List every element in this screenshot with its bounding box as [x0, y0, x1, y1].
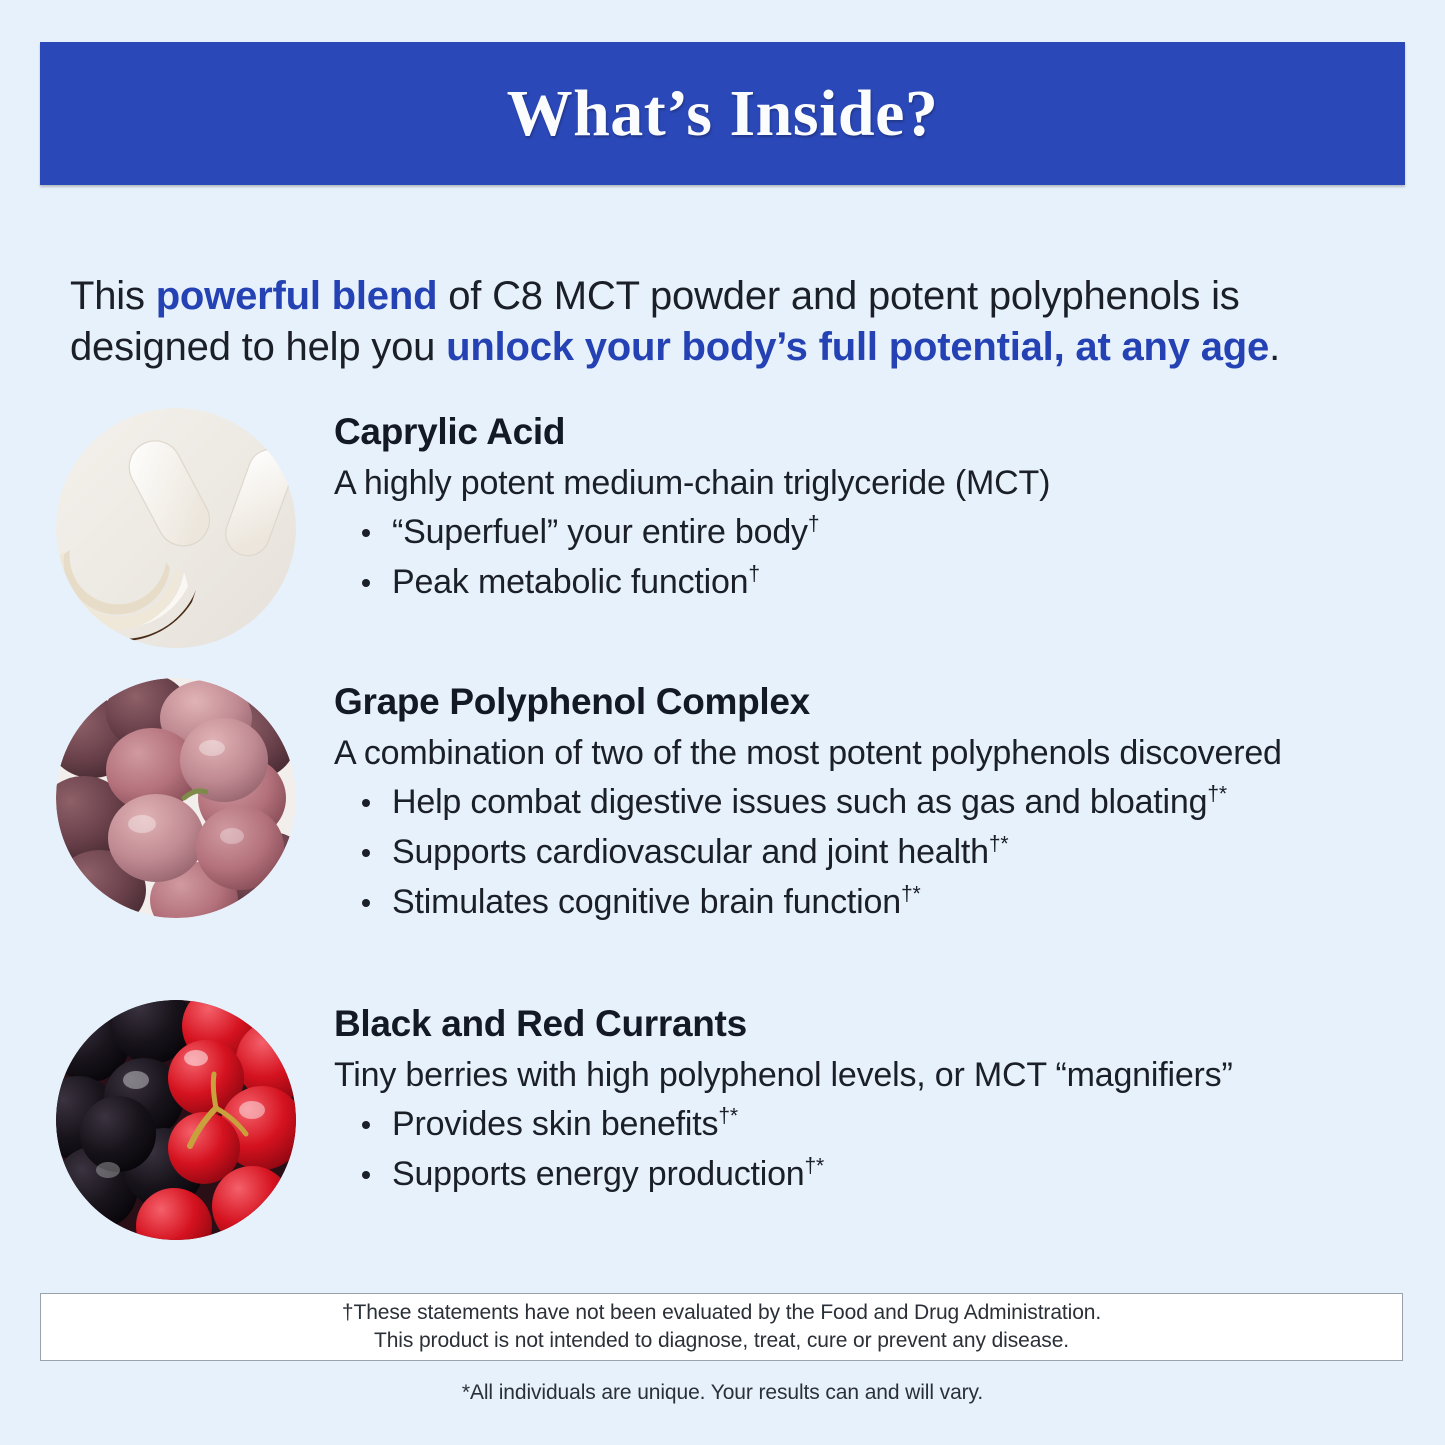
page-title: What’s Inside? — [507, 81, 939, 147]
footnote-marker: †* — [805, 1155, 825, 1178]
bullet-dot-icon — [362, 799, 370, 807]
footnote-marker: † — [808, 513, 820, 536]
disclaimer-line-1: †These statements have not been evaluate… — [342, 1299, 1101, 1327]
ingredient-bullet-list: Help combat digestive issues such as gas… — [334, 782, 1401, 922]
grapes-photo — [56, 678, 296, 918]
bullet-text: Peak metabolic function — [392, 563, 748, 601]
bullet-dot-icon — [362, 1121, 370, 1129]
ingredient-body: Caprylic Acid A highly potent medium-cha… — [334, 408, 1401, 612]
footnote-marker: †* — [1207, 783, 1227, 806]
bullet-dot-icon — [362, 1171, 370, 1179]
ingredient-bullet-item: Supports cardiovascular and joint health… — [360, 832, 1401, 873]
bullet-dot-icon — [362, 579, 370, 587]
ingredient-description: A highly potent medium-chain triglycerid… — [334, 463, 1401, 504]
ingredient-body: Black and Red Currants Tiny berries with… — [334, 1000, 1401, 1204]
bullet-dot-icon — [362, 529, 370, 537]
footnote-marker: †* — [989, 833, 1009, 856]
ingredient-bullet-item: Provides skin benefits†* — [360, 1104, 1401, 1145]
ingredient-description: Tiny berries with high polyphenol levels… — [334, 1055, 1401, 1096]
disclaimer-line-2: This product is not intended to diagnose… — [374, 1327, 1069, 1355]
bullet-text: Supports cardiovascular and joint health — [392, 833, 989, 871]
ingredient-bullet-item: Supports energy production†* — [360, 1154, 1401, 1195]
intro-text-part3: . — [1269, 325, 1280, 369]
ingredient-body: Grape Polyphenol Complex A combination o… — [334, 678, 1401, 932]
bullet-text: Provides skin benefits — [392, 1105, 718, 1143]
ingredient-bullet-item: Help combat digestive issues such as gas… — [360, 782, 1401, 823]
ingredient-title: Grape Polyphenol Complex — [334, 682, 1401, 723]
ingredient-section-black-and-red-currants: Black and Red Currants Tiny berries with… — [56, 1000, 1401, 1240]
bullet-text: Help combat digestive issues such as gas… — [392, 783, 1207, 821]
ingredient-section-caprylic-acid: Caprylic Acid A highly potent medium-cha… — [56, 408, 1401, 648]
intro-paragraph: This powerful blend of C8 MCT powder and… — [70, 271, 1370, 373]
ingredient-description: A combination of two of the most potent … — [334, 733, 1401, 774]
bullet-dot-icon — [362, 899, 370, 907]
ingredient-section-grape-polyphenol-complex: Grape Polyphenol Complex A combination o… — [56, 678, 1401, 932]
header-banner: What’s Inside? — [40, 42, 1405, 185]
disclaimer-box: †These statements have not been evaluate… — [40, 1293, 1403, 1361]
footnote-marker: †* — [718, 1105, 738, 1128]
ingredient-bullet-list: Provides skin benefits†*Supports energy … — [334, 1104, 1401, 1195]
bullet-text: Supports energy production — [392, 1155, 805, 1193]
ingredient-bullet-item: Peak metabolic function† — [360, 562, 1401, 603]
currants-photo — [56, 1000, 296, 1240]
bullet-text: “Superfuel” your entire body — [392, 513, 808, 551]
ingredient-bullet-list: “Superfuel” your entire body†Peak metabo… — [334, 512, 1401, 603]
ingredient-bullet-item: Stimulates cognitive brain function†* — [360, 882, 1401, 923]
results-note: *All individuals are unique. Your result… — [0, 1381, 1445, 1405]
intro-highlight-full-potential: unlock your body’s full potential, at an… — [446, 325, 1269, 369]
intro-text-part1: This — [70, 274, 156, 318]
footnote-marker: †* — [901, 883, 921, 906]
bullet-text: Stimulates cognitive brain function — [392, 883, 901, 921]
footnote-marker: † — [748, 563, 760, 586]
ingredient-bullet-item: “Superfuel” your entire body† — [360, 512, 1401, 553]
coconut-photo — [56, 408, 296, 648]
ingredient-title: Black and Red Currants — [334, 1004, 1401, 1045]
ingredient-title: Caprylic Acid — [334, 412, 1401, 453]
bullet-dot-icon — [362, 849, 370, 857]
intro-highlight-powerful-blend: powerful blend — [156, 274, 438, 318]
